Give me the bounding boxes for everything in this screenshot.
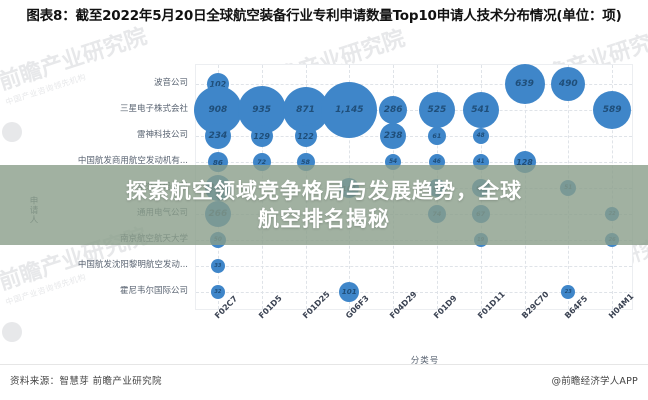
chart-title: 图表8：截至2022年5月20日全球航空装备行业专利申请数量Top10申请人技术…	[18, 8, 630, 25]
bubble-value-label: 286	[384, 105, 403, 115]
bubble-value-label: 101	[342, 287, 357, 296]
bubble-point[interactable]: 490	[551, 67, 585, 101]
bubble-value-label: 32	[214, 289, 221, 295]
bubble-point[interactable]: 32	[211, 285, 225, 299]
overlay-banner: 探索航空领域竞争格局与发展趋势，全球 航空排名揭秘	[0, 165, 648, 245]
bubble-point[interactable]: 122	[295, 125, 317, 147]
watermark-logo-icon	[2, 322, 22, 342]
bubble-value-label: 525	[427, 105, 446, 115]
bubble-point[interactable]: 61	[428, 127, 446, 145]
bubble-value-label: 871	[296, 105, 315, 115]
bubble-value-label: 1,145	[335, 105, 363, 115]
bubble-value-label: 490	[559, 79, 578, 89]
bubble-value-label: 908	[208, 105, 227, 115]
overlay-line-2: 航空排名揭秘	[258, 205, 390, 233]
chart-page: 前瞻产业研究院 中国产业咨询领先机构 前瞻产业研究院 中国产业咨询领先机构 前瞻…	[0, 0, 648, 400]
bubble-value-label: 33	[214, 263, 221, 269]
overlay-line-1: 探索航空领域竞争格局与发展趋势，全球	[126, 177, 522, 205]
grid-line-horizontal	[196, 266, 632, 267]
bubble-value-label: 935	[252, 105, 271, 115]
bubble-point[interactable]: 1,145	[321, 82, 377, 138]
bubble-point[interactable]: 101	[339, 282, 359, 302]
bubble-point[interactable]: 33	[211, 259, 225, 273]
bubble-point[interactable]: 234	[205, 123, 231, 149]
bubble-value-label: 23	[565, 289, 572, 295]
bubble-point[interactable]: 286	[379, 96, 407, 124]
bubble-value-label: 238	[384, 131, 403, 141]
x-axis-labels: 分类号 F02C7F01D5F01D25G06F3F04D29F01D9F01D…	[195, 314, 648, 354]
bubble-point[interactable]: 639	[505, 64, 545, 104]
footer-divider	[0, 364, 648, 365]
bubble-point[interactable]: 238	[380, 123, 406, 149]
bubble-value-label: 48	[477, 133, 485, 139]
y-axis-label: 雷神科技公司	[137, 130, 188, 140]
bubble-value-label: 122	[297, 132, 314, 141]
bubble-value-label: 61	[432, 132, 441, 140]
brand-note: @前瞻经济学人APP	[552, 373, 638, 387]
bubble-point[interactable]: 541	[463, 92, 499, 128]
y-axis-label: 波音公司	[154, 78, 188, 88]
bubble-point[interactable]: 525	[419, 92, 455, 128]
bubble-value-label: 541	[471, 105, 490, 115]
y-axis-label: 霍尼韦尔国际公司	[120, 286, 188, 296]
bubble-value-label: 129	[253, 132, 270, 141]
bubble-value-label: 234	[208, 131, 227, 141]
y-axis-label: 三星电子株式会社	[120, 104, 188, 114]
bubble-value-label: 589	[603, 105, 622, 115]
source-note: 资料来源：智慧芽 前瞻产业研究院	[10, 373, 162, 387]
bubble-point[interactable]: 23	[561, 285, 575, 299]
bubble-value-label: 639	[515, 79, 534, 89]
bubble-point[interactable]: 48	[473, 128, 489, 144]
bubble-point[interactable]: 589	[593, 91, 631, 129]
bubble-point[interactable]: 129	[251, 125, 273, 147]
y-axis-label: 中国航发沈阳黎明航空发动...	[78, 260, 188, 270]
